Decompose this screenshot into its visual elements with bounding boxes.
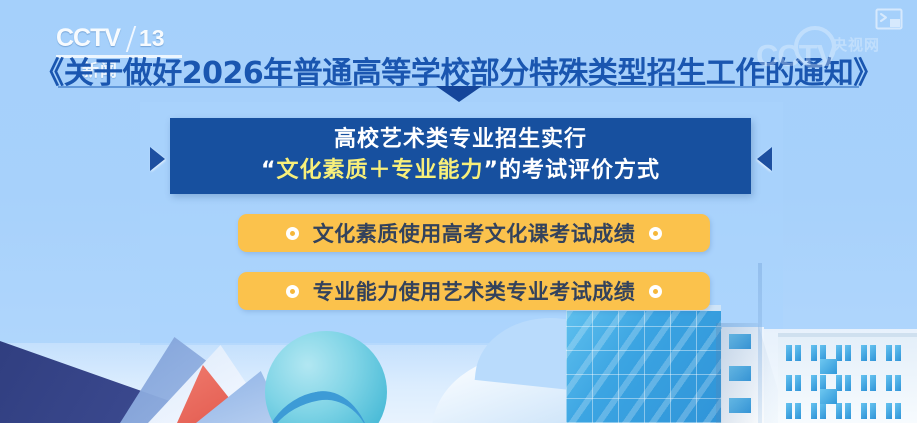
building-window-group xyxy=(836,375,851,391)
building-accent-window xyxy=(820,359,837,374)
building-window-group xyxy=(861,403,876,419)
banner-highlight: 文化素质＋专业能力 xyxy=(276,158,483,183)
decor-vertical-pole xyxy=(758,263,762,423)
building-window-group xyxy=(786,345,801,361)
building-window-row xyxy=(778,403,917,419)
building-window-row xyxy=(778,345,917,361)
bullet-dot-icon xyxy=(286,285,299,298)
building-window-group xyxy=(886,375,901,391)
key-point-pill-2: 专业能力使用艺术类专业考试成绩 xyxy=(238,272,710,310)
building-window-group xyxy=(836,345,851,361)
banner-line-2-tail: 的考试评价方式 xyxy=(499,158,660,183)
key-point-1-text: 文化素质使用高考文化课考试成绩 xyxy=(313,218,636,248)
broadcast-screenshot: CCTV 13 新闻 《关于做好2026年普通高等学校部分特殊类型招生工作的通知… xyxy=(0,0,917,423)
building-window-group xyxy=(786,403,801,419)
key-point-pill-1: 文化素质使用高考文化课考试成绩 xyxy=(238,214,710,252)
banner-quote-close: ” xyxy=(484,158,499,183)
building-right-block xyxy=(778,333,917,423)
building-glass-tower xyxy=(566,305,721,423)
caret-down-icon xyxy=(436,86,482,102)
building-window-group xyxy=(786,375,801,391)
key-point-2-text: 专业能力使用艺术类专业考试成绩 xyxy=(313,276,636,306)
bullet-dot-icon xyxy=(649,227,662,240)
main-statement-banner: 高校艺术类专业招生实行 “文化素质＋专业能力”的考试评价方式 xyxy=(170,118,751,194)
triangle-right-icon xyxy=(150,147,165,171)
building-window-group xyxy=(811,403,826,419)
decor-circle-swoosh xyxy=(265,384,372,423)
building-window-row xyxy=(778,375,917,391)
bullet-dot-icon xyxy=(649,285,662,298)
banner-line-2: “文化素质＋专业能力”的考试评价方式 xyxy=(261,155,660,187)
building-window-group xyxy=(861,375,876,391)
building-window-group xyxy=(886,345,901,361)
banner-quote-open: “ xyxy=(261,158,276,183)
picture-in-picture-icon[interactable] xyxy=(875,8,903,30)
building-window-group xyxy=(861,345,876,361)
building-window-group xyxy=(836,403,851,419)
bullet-dot-icon xyxy=(286,227,299,240)
triangle-left-icon xyxy=(757,147,772,171)
banner-line-1: 高校艺术类专业招生实行 xyxy=(334,125,587,155)
building-accent-window xyxy=(820,389,837,404)
building-window-group xyxy=(886,403,901,419)
